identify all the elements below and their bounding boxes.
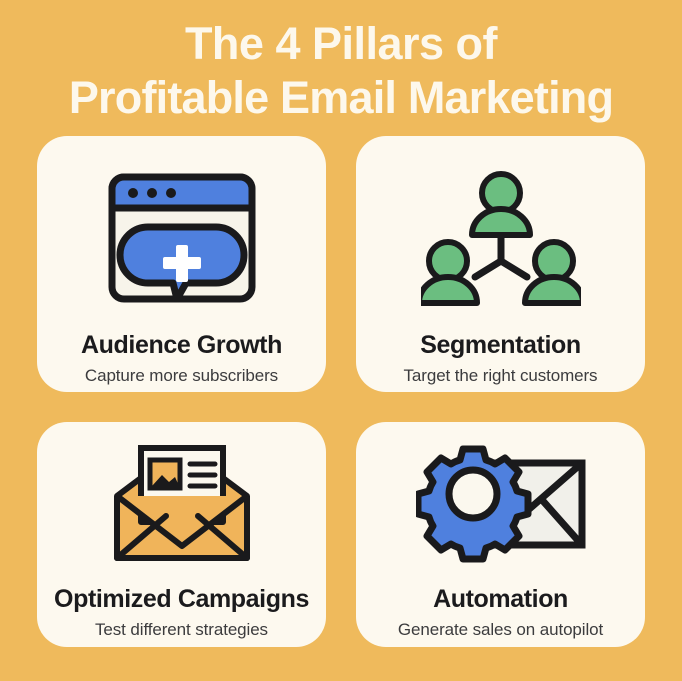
audience-growth-icon-wrap bbox=[37, 162, 326, 314]
three-people-network-icon bbox=[421, 169, 581, 307]
pillar-card-segmentation: Segmentation Target the right customers bbox=[356, 136, 645, 392]
card-subtitle-audience-growth: Capture more subscribers bbox=[85, 365, 278, 387]
automation-icon-wrap bbox=[356, 440, 645, 568]
infographic-poster: The 4 Pillars of Profitable Email Market… bbox=[0, 0, 682, 681]
card-title-automation: Automation bbox=[433, 584, 568, 614]
card-subtitle-segmentation: Target the right customers bbox=[404, 365, 598, 387]
segmentation-icon-wrap bbox=[356, 162, 645, 314]
pillar-card-optimized-campaigns: Optimized Campaigns Test different strat… bbox=[37, 422, 326, 647]
pillar-card-audience-growth: Audience Growth Capture more subscribers bbox=[37, 136, 326, 392]
optimized-campaigns-icon-wrap bbox=[37, 440, 326, 568]
open-envelope-newsletter-icon bbox=[111, 444, 253, 564]
card-title-segmentation: Segmentation bbox=[420, 330, 581, 360]
card-title-audience-growth: Audience Growth bbox=[81, 330, 282, 360]
poster-title-line-2: Profitable Email Marketing bbox=[0, 71, 682, 125]
browser-window-plus-bubble-icon bbox=[106, 171, 258, 305]
pillar-card-automation: Automation Generate sales on autopilot bbox=[356, 422, 645, 647]
card-subtitle-optimized-campaigns: Test different strategies bbox=[95, 619, 268, 641]
card-subtitle-automation: Generate sales on autopilot bbox=[398, 619, 603, 641]
pillars-grid: Audience Growth Capture more subscribers bbox=[37, 136, 645, 647]
gear-envelope-icon bbox=[416, 445, 586, 563]
poster-title-line-1: The 4 Pillars of bbox=[0, 17, 682, 71]
poster-title: The 4 Pillars of Profitable Email Market… bbox=[0, 0, 682, 125]
card-title-optimized-campaigns: Optimized Campaigns bbox=[54, 584, 309, 614]
